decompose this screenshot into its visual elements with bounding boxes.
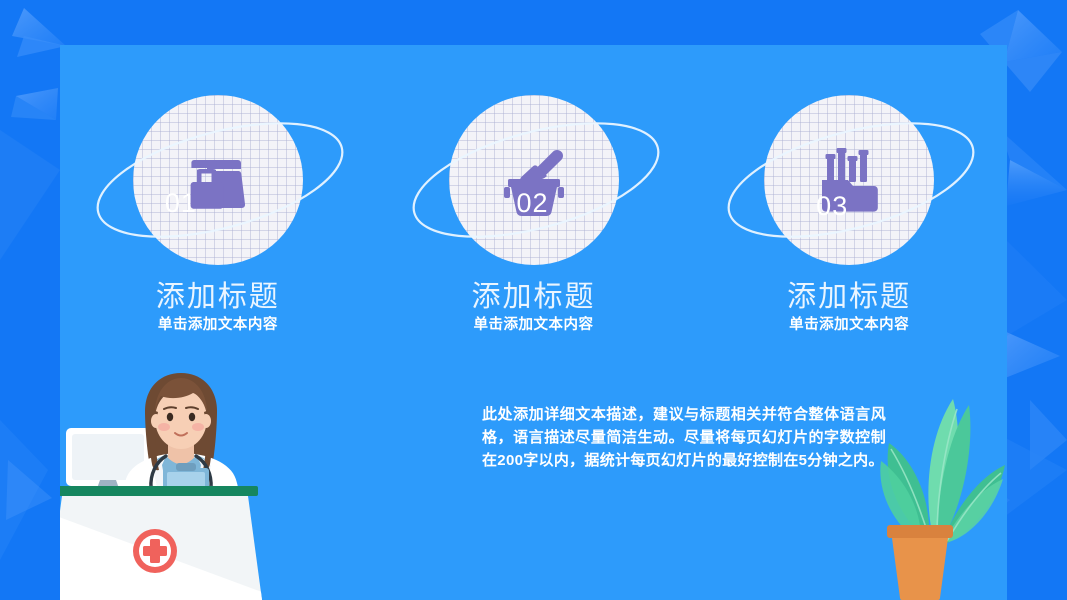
feature-subtitle-01: 单击添加文本内容 — [158, 313, 278, 334]
reception-desk — [60, 486, 270, 600]
content-panel: 01 添加标题 单击添加文本内容 — [60, 45, 1007, 600]
feature-title-01: 添加标题 — [156, 273, 280, 315]
potted-plant-illustration — [857, 365, 1007, 600]
feature-title-02: 添加标题 — [471, 273, 595, 315]
feature-item-01[interactable]: 01 添加标题 单击添加文本内容 — [60, 45, 376, 345]
mortar-and-pestle-icon — [449, 95, 619, 265]
feature-circle-01[interactable]: 01 — [133, 95, 303, 265]
feature-title-03: 添加标题 — [787, 273, 911, 315]
feature-item-03[interactable]: 03 添加标题 单击添加文本内容 — [691, 45, 1007, 345]
feature-circle-03[interactable]: 03 — [764, 95, 934, 265]
feature-item-02[interactable]: 02 添加标题 单击添加文本内容 — [376, 45, 692, 345]
medicine-basket-icon — [764, 95, 934, 265]
flower-pot — [887, 525, 953, 600]
feature-subtitle-03: 单击添加文本内容 — [789, 313, 909, 334]
feature-number-01: 01 — [165, 190, 197, 217]
feature-subtitle-02: 单击添加文本内容 — [474, 313, 594, 334]
features-row: 01 添加标题 单击添加文本内容 — [60, 45, 1007, 345]
feature-number-03: 03 — [816, 193, 848, 220]
feature-circle-02[interactable]: 02 — [449, 95, 619, 265]
medicine-pouch-icon — [133, 95, 303, 265]
presentation-slide: 01 添加标题 单击添加文本内容 — [0, 0, 1067, 600]
body-paragraph: 此处添加详细文本描述，建议与标题相关并符合整体语言风格，语言描述尽量简洁生动。尽… — [482, 403, 886, 472]
red-medical-cross-icon — [133, 529, 177, 573]
feature-number-02: 02 — [517, 190, 549, 217]
doctor-illustration — [60, 355, 305, 600]
plant-leaves — [880, 399, 1005, 543]
